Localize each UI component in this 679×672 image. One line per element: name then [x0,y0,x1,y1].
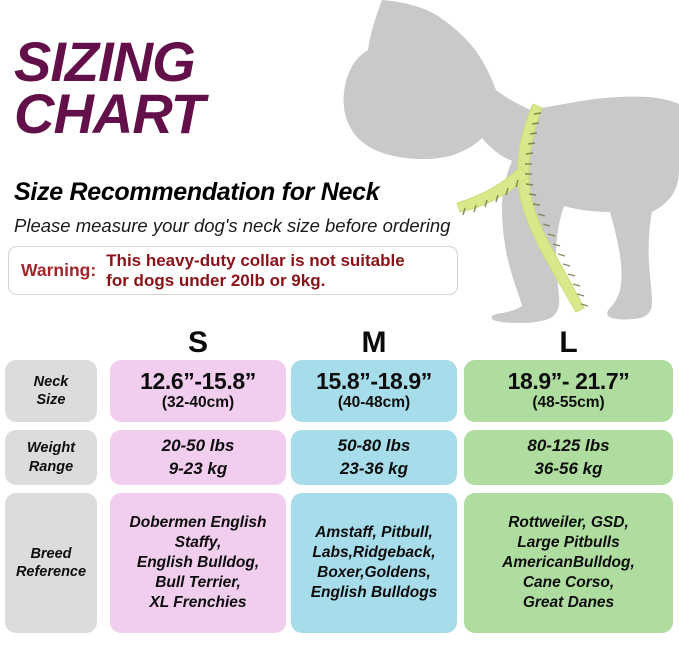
breed-reference-cell-s: Dobermen English Staffy, English Bulldog… [110,493,286,633]
size-header-s: S [110,326,286,360]
page-title: SIZING CHART [14,36,204,139]
table-row: Neck Size 12.6”-15.8” (32-40cm) 15.8”-18… [0,360,679,422]
neck-size-inches-m: 15.8”-18.9” [316,369,432,393]
weight-range-text-s: 20-50 lbs 9-23 kg [162,435,235,481]
header-block: SIZING CHART [14,36,204,139]
weight-range-cell-m: 50-80 lbs 23-36 kg [291,430,457,485]
table-row: Weight Range 20-50 lbs 9-23 kg 50-80 lbs… [0,430,679,485]
row-label-neck-size: Neck Size [5,360,97,422]
warning-label: Warning: [9,260,106,281]
neck-size-cell-l: 18.9”- 21.7” (48-55cm) [464,360,673,422]
breed-reference-cell-m: Amstaff, Pitbull, Labs,Ridgeback, Boxer,… [291,493,457,633]
warning-message: This heavy-duty collar is not suitable f… [106,251,405,289]
size-header-l: L [464,326,673,360]
neck-size-inches-s: 12.6”-15.8” [140,369,256,393]
neck-size-cell-s: 12.6”-15.8” (32-40cm) [110,360,286,422]
table-header-row: S M L [0,326,679,360]
subtitle: Size Recommendation for Neck [14,178,379,207]
row-label-breed-reference: Breed Reference [5,493,97,633]
breed-reference-text-l: Rottweiler, GSD, Large Pitbulls American… [498,513,639,612]
neck-size-cm-s: (32-40cm) [162,394,234,413]
breed-reference-cell-l: Rottweiler, GSD, Large Pitbulls American… [464,493,673,633]
neck-size-inches-l: 18.9”- 21.7” [508,369,630,393]
weight-range-text-l: 80-125 lbs 36-56 kg [527,435,609,481]
weight-range-text-m: 50-80 lbs 23-36 kg [338,435,411,481]
weight-range-cell-s: 20-50 lbs 9-23 kg [110,430,286,485]
breed-reference-text-m: Amstaff, Pitbull, Labs,Ridgeback, Boxer,… [307,523,442,602]
neck-size-cm-m: (40-48cm) [338,394,410,413]
warning-box: Warning: This heavy-duty collar is not s… [8,246,458,295]
instruction-text: Please measure your dog's neck size befo… [14,215,450,237]
weight-range-cell-l: 80-125 lbs 36-56 kg [464,430,673,485]
size-table: S M L Neck Size 12.6”-15.8” (32-40cm) 15… [0,326,679,638]
neck-size-cm-l: (48-55cm) [532,394,604,413]
neck-size-cell-m: 15.8”-18.9” (40-48cm) [291,360,457,422]
row-label-weight-range: Weight Range [5,430,97,485]
size-header-m: M [291,326,457,360]
breed-reference-text-s: Dobermen English Staffy, English Bulldog… [126,513,271,612]
table-row: Breed Reference Dobermen English Staffy,… [0,493,679,633]
